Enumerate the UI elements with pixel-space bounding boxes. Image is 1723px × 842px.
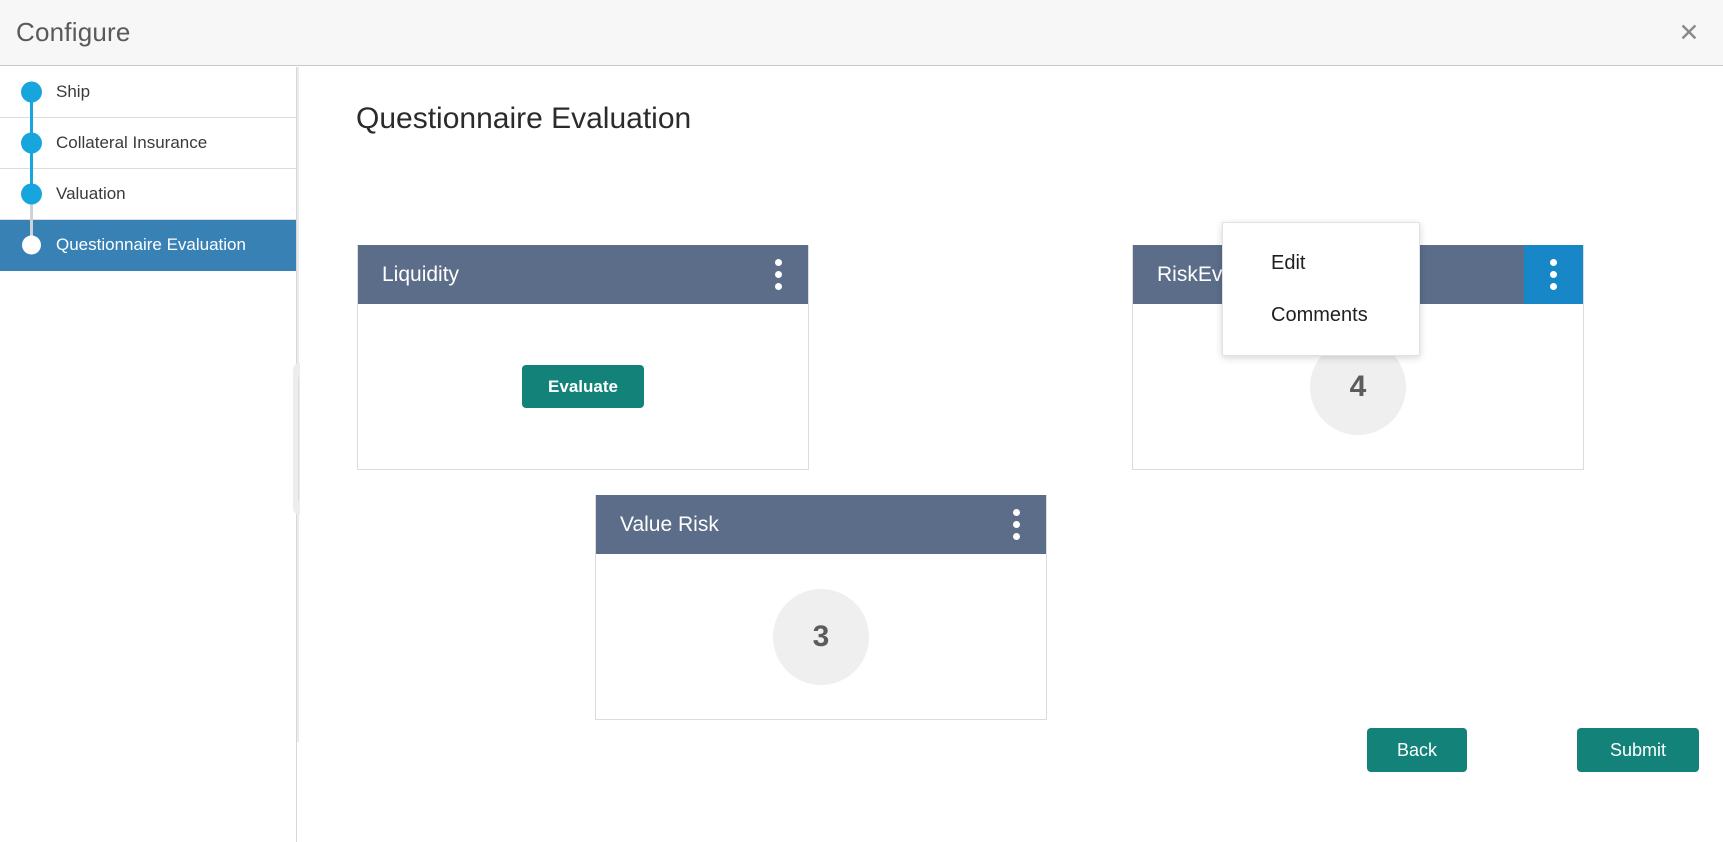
- card-liquidity: Liquidity Evaluate: [357, 245, 809, 470]
- score-badge: 3: [773, 589, 869, 685]
- sidebar-item-valuation[interactable]: Valuation: [0, 169, 296, 220]
- card-header: Value Risk: [596, 495, 1046, 554]
- main-content: Questionnaire Evaluation Liquidity Evalu…: [300, 67, 1723, 842]
- menu-item-edit[interactable]: Edit: [1223, 237, 1419, 289]
- card-body: Evaluate: [358, 304, 808, 469]
- dot-icon: [1013, 509, 1020, 516]
- sidebar-item-label: Valuation: [56, 184, 126, 204]
- dot-icon: [775, 283, 782, 290]
- dot-icon: [775, 259, 782, 266]
- card-value-risk: Value Risk 3: [595, 495, 1047, 720]
- step-dot-icon: [21, 184, 42, 205]
- grip-line-icon: [298, 377, 299, 501]
- dot-icon: [1550, 271, 1557, 278]
- dot-icon: [1013, 521, 1020, 528]
- card-body: 3: [596, 554, 1046, 719]
- close-icon[interactable]: ✕: [1665, 8, 1713, 56]
- card-title: Liquidity: [382, 263, 459, 287]
- sidebar-item-ship[interactable]: Ship: [0, 67, 296, 118]
- sidebar-item-label: Questionnaire Evaluation: [56, 235, 246, 255]
- sidebar-item-collateral-insurance[interactable]: Collateral Insurance: [0, 118, 296, 169]
- card-menu-icon[interactable]: [1524, 245, 1583, 304]
- sidebar-item-label: Ship: [56, 82, 90, 102]
- step-dot-icon: [22, 236, 41, 255]
- back-button[interactable]: Back: [1367, 728, 1467, 772]
- dot-icon: [1550, 283, 1557, 290]
- card-menu-icon[interactable]: [987, 495, 1046, 554]
- sidebar-item-questionnaire-evaluation[interactable]: Questionnaire Evaluation: [0, 220, 296, 271]
- dot-icon: [1550, 259, 1557, 266]
- sidebar-item-label: Collateral Insurance: [56, 133, 207, 153]
- dialog-title: Configure: [16, 17, 131, 48]
- step-dot-icon: [21, 133, 42, 154]
- dot-icon: [1013, 533, 1020, 540]
- page-title: Questionnaire Evaluation: [356, 102, 691, 136]
- configure-dialog: Configure ✕ Ship Collateral Insurance Va…: [0, 0, 1723, 842]
- step-dot-icon: [21, 82, 42, 103]
- card-header: Liquidity: [358, 245, 808, 304]
- stepper-sidebar: Ship Collateral Insurance Valuation Ques…: [0, 67, 297, 842]
- dot-icon: [775, 271, 782, 278]
- card-context-menu: Edit Comments: [1222, 222, 1420, 356]
- dialog-titlebar: Configure ✕: [0, 0, 1723, 66]
- card-title: Value Risk: [620, 513, 719, 537]
- card-menu-icon[interactable]: [749, 245, 808, 304]
- menu-item-comments[interactable]: Comments: [1223, 289, 1419, 341]
- submit-button[interactable]: Submit: [1577, 728, 1699, 772]
- evaluate-button[interactable]: Evaluate: [522, 365, 644, 408]
